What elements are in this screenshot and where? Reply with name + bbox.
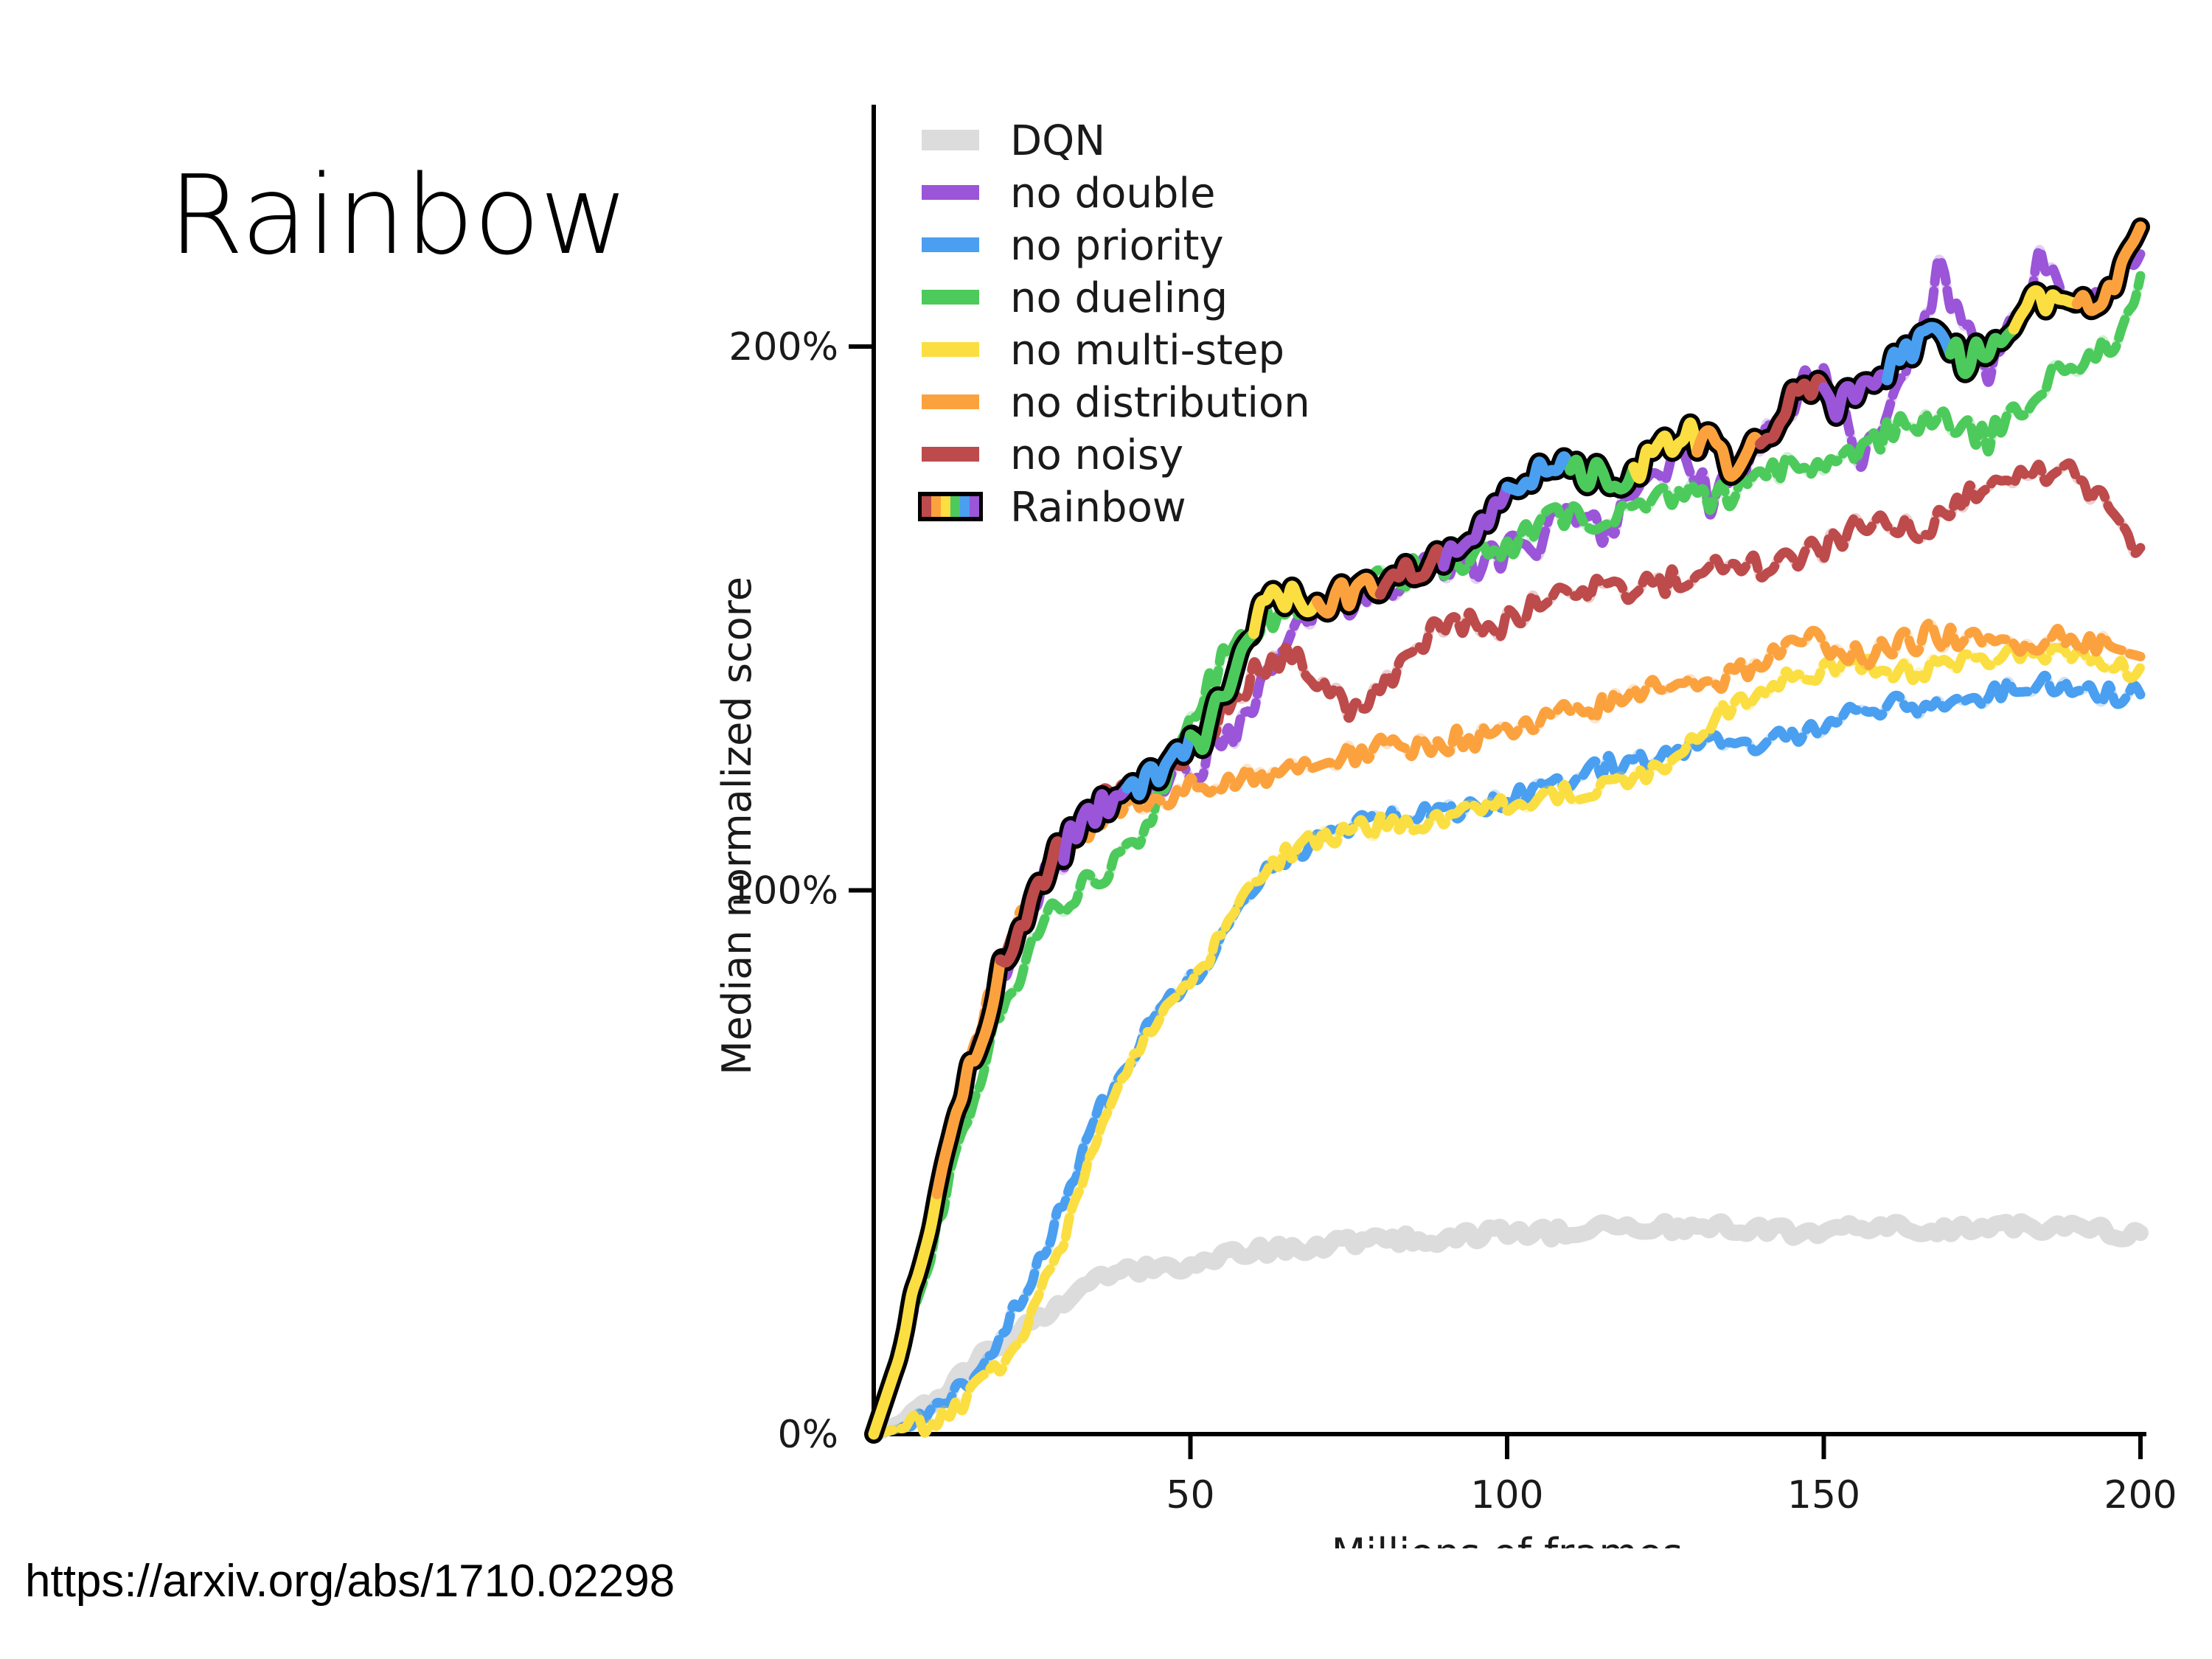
legend-label-no-distribution: no distribution: [1010, 379, 1310, 427]
legend-label-no-noisy: no noisy: [1010, 431, 1183, 479]
chart-figure: 0%100%200%50100150200 Millions of frames…: [664, 44, 2212, 1548]
legend-item-DQN[interactable]: DQN: [922, 117, 1105, 165]
median-normalized-score-line-chart: 0%100%200%50100150200 Millions of frames…: [664, 44, 2212, 1548]
rainbow-swatch-segment: [950, 496, 960, 517]
legend-item-no-noisy[interactable]: no noisy: [922, 431, 1183, 479]
no-distribution-swatch: [922, 394, 979, 409]
rainbow-swatch-segment: [970, 496, 979, 517]
legend-item-Rainbow[interactable]: Rainbow: [918, 484, 1186, 532]
legend-item-no-priority[interactable]: no priority: [922, 222, 1224, 270]
legend-label-no-double: no double: [1010, 170, 1215, 218]
x-tick-label-200: 200: [2104, 1473, 2177, 1517]
series-no-priority: [874, 675, 2140, 1434]
no-priority-swatch: [922, 237, 979, 252]
series-no-priority-halo: [874, 675, 2140, 1434]
series-rainbow-segment: [937, 960, 1001, 1194]
legend-item-no-dueling[interactable]: no dueling: [922, 274, 1228, 322]
source-url-text: https://arxiv.org/abs/1710.02298: [25, 1554, 675, 1609]
x-tick-label-50: 50: [1166, 1473, 1214, 1517]
dqn-swatch: [922, 130, 979, 150]
series-no-multi-step: [874, 647, 2140, 1434]
page-title: Rainbow: [168, 161, 628, 270]
series-no-multi-step-halo: [874, 647, 2140, 1434]
legend-label-no-priority: no priority: [1010, 222, 1224, 270]
rainbow-swatch-segment: [960, 496, 970, 517]
legend-label-no-dueling: no dueling: [1010, 274, 1228, 322]
legend-label-no-multi-step: no multi-step: [1010, 327, 1284, 375]
x-tick-label-150: 150: [1787, 1473, 1860, 1517]
x-axis-title: Millions of frames: [1332, 1530, 1683, 1548]
rainbow-swatch-segment: [941, 496, 950, 517]
series-no-noisy: [874, 463, 2140, 1434]
legend-item-no-double[interactable]: no double: [922, 170, 1215, 218]
no-multi-step-swatch: [922, 342, 979, 357]
legend-item-no-multi-step[interactable]: no multi-step: [922, 327, 1284, 375]
y-tick-label-200%: 200%: [728, 325, 838, 369]
legend-label-Rainbow: Rainbow: [1010, 484, 1186, 532]
no-dueling-swatch: [922, 290, 979, 305]
slide-canvas: Rainbow https://arxiv.org/abs/1710.02298…: [0, 0, 2212, 1659]
no-noisy-swatch: [922, 447, 979, 462]
rainbow-swatch-segment: [922, 496, 931, 517]
y-axis-title: Median normalized score: [714, 577, 760, 1075]
legend-label-DQN: DQN: [1010, 117, 1105, 165]
rainbow-swatch-segment: [931, 496, 941, 517]
no-double-swatch: [922, 185, 979, 200]
legend-item-no-distribution[interactable]: no distribution: [922, 379, 1310, 427]
chart-legend: DQNno doubleno priorityno duelingno mult…: [918, 117, 1310, 532]
x-tick-label-100: 100: [1470, 1473, 1543, 1517]
y-tick-label-0%: 0%: [778, 1413, 839, 1457]
